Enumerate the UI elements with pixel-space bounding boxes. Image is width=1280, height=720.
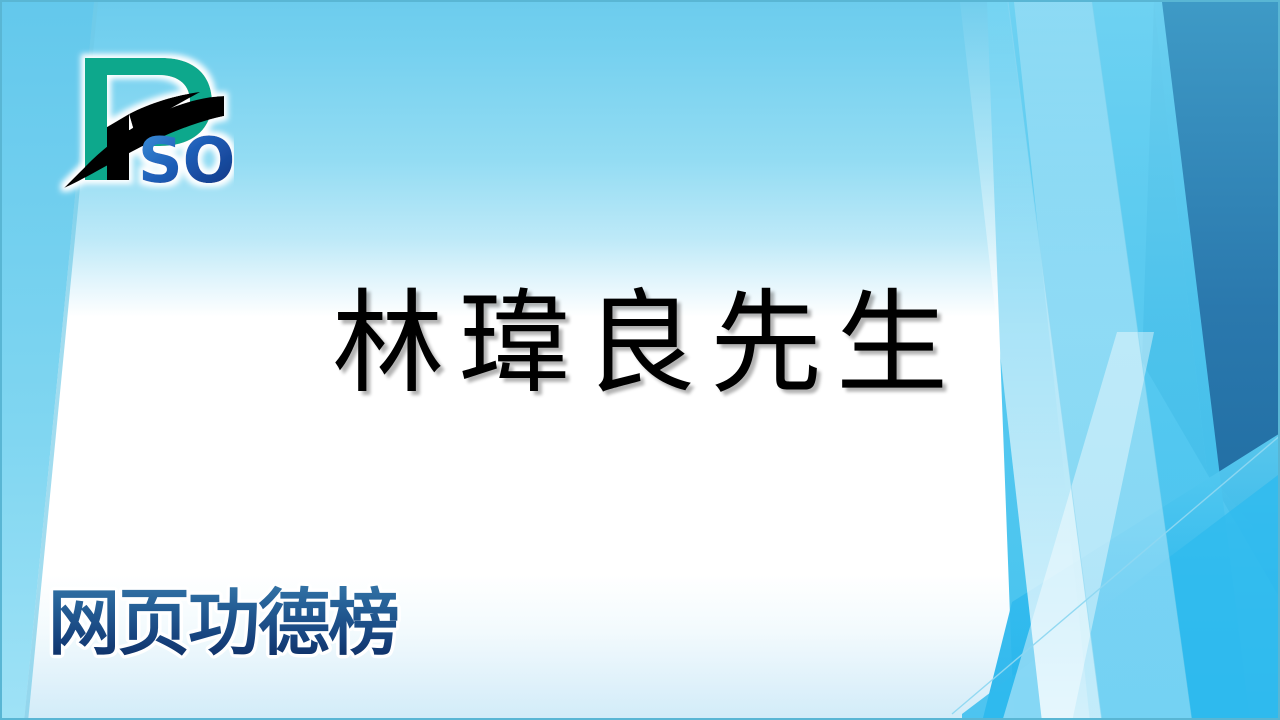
- slide-canvas: SO 林瑋良先生 网页功德榜: [0, 0, 1280, 720]
- page-title: 林瑋良先生: [332, 284, 952, 405]
- logo-p-leg: [107, 114, 129, 180]
- logo-text-so: SO: [138, 124, 234, 197]
- footer-wordmark-text: 网页功德榜: [48, 581, 398, 665]
- pso-logo: SO: [54, 30, 234, 208]
- footer-wordmark: 网页功德榜: [46, 580, 476, 668]
